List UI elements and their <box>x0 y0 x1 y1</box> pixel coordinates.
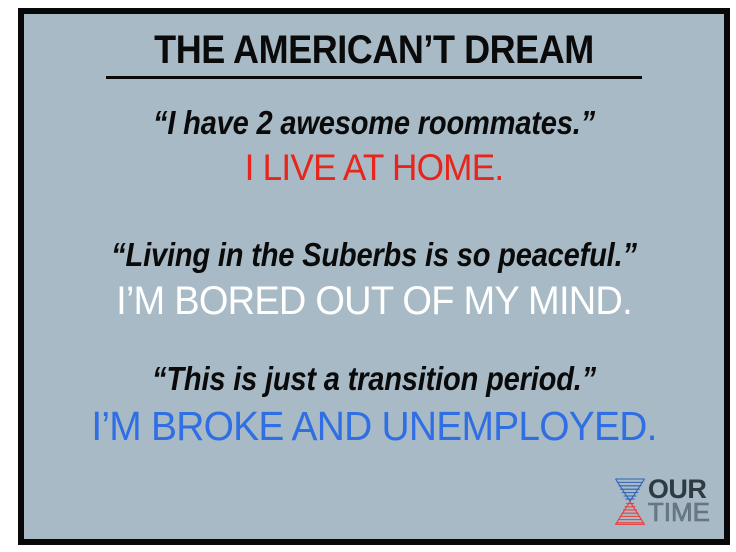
stanza-2-quote: “Living in the Suberbs is so peaceful.” <box>66 236 682 275</box>
stanza-2: “Living in the Suberbs is so peaceful.” … <box>24 236 724 326</box>
title-underline <box>106 76 642 79</box>
page-title: THE AMERICAN’T DREAM <box>59 28 689 73</box>
logo-wordmark: OUR TIME <box>648 478 710 525</box>
ourtime-logo: OUR TIME <box>613 473 710 529</box>
stanza-1: “I have 2 awesome roommates.” I LIVE AT … <box>24 104 724 190</box>
stanza-2-punchline: I’M BORED OUT OF MY MIND. <box>42 277 707 326</box>
stanza-3-quote: “This is just a transition period.” <box>66 360 682 399</box>
hourglass-icon <box>613 475 647 527</box>
stanza-3: “This is just a transition period.” I’M … <box>24 360 724 451</box>
logo-line-time: TIME <box>648 501 710 524</box>
stanza-1-punchline: I LIVE AT HOME. <box>42 145 707 190</box>
slide-frame: THE AMERICAN’T DREAM “I have 2 awesome r… <box>18 8 730 545</box>
stanza-1-quote: “I have 2 awesome roommates.” <box>66 104 682 143</box>
stanza-3-punchline: I’M BROKE AND UNEMPLOYED. <box>42 401 707 451</box>
slide-content: THE AMERICAN’T DREAM “I have 2 awesome r… <box>24 14 724 539</box>
